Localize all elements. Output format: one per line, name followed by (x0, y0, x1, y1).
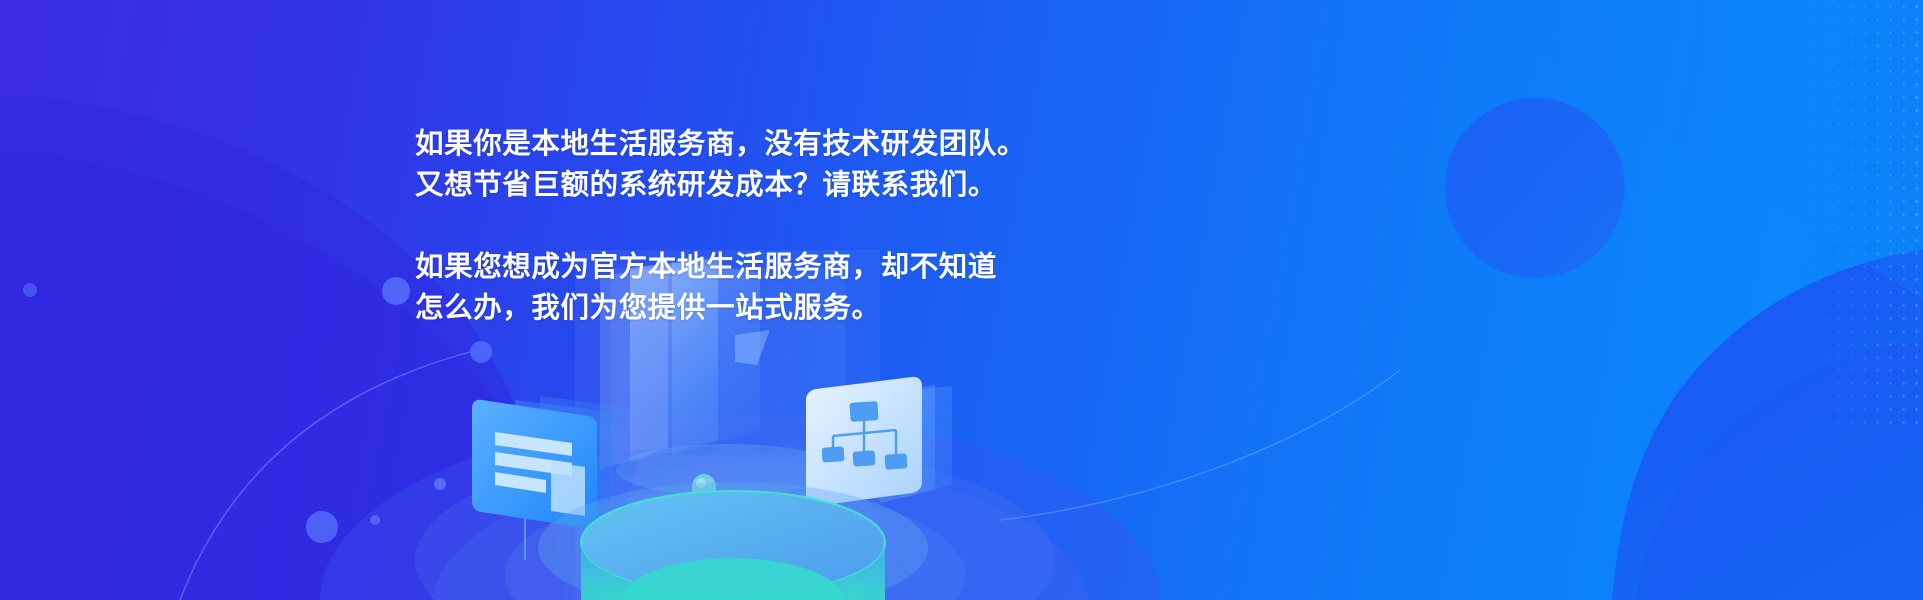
cylinder-outer-disc (538, 482, 928, 600)
copy-line-3: 如果您想成为官方本地生活服务商，却不知道 (415, 247, 1175, 288)
org-chart-leaf-1 (822, 446, 845, 462)
copy-paragraph-1: 如果你是本地生活服务商，没有技术研发团队。 又想节省巨额的系统研发成本？请联系我… (415, 124, 1175, 206)
copy-line-1: 如果你是本地生活服务商，没有技术研发团队。 (415, 124, 1175, 165)
decorative-dot-tiny (434, 478, 446, 490)
pendant-ball-highlight (696, 478, 706, 488)
document-card-row-3 (495, 472, 546, 493)
document-list-card-icon (472, 396, 630, 600)
platform-halo-2 (505, 487, 965, 600)
accent-shard (735, 330, 770, 365)
copy-line-2: 又想节省巨额的系统研发成本？请联系我们。 (415, 165, 1175, 206)
org-chart-leaf-3 (885, 453, 908, 469)
cylinder-core (623, 558, 843, 600)
decorative-dot-tiny-2 (370, 515, 380, 525)
org-chart-root-node (849, 401, 878, 422)
hero-banner: 如果你是本地生活服务商，没有技术研发团队。 又想节省巨额的系统研发成本？请联系我… (0, 0, 1923, 600)
decorative-dot-faint (23, 283, 37, 297)
decorative-dot-mid (470, 341, 492, 363)
document-card-row-2 (495, 452, 572, 476)
org-chart-card-ghost-1 (880, 385, 935, 503)
document-card-ghost-2 (540, 396, 630, 522)
document-card-panel (551, 462, 585, 516)
decorative-arc-right (1000, 370, 1400, 520)
document-card-body (472, 400, 597, 528)
background-glow-ellipse-2 (430, 462, 1090, 600)
platform-halo (415, 445, 1055, 600)
pendant-dot-icon (692, 380, 716, 500)
decorative-dot-tiny-3 (827, 560, 837, 570)
copy-line-4: 怎么办，我们为您提供一站式服务。 (415, 288, 1175, 329)
cylinder-aura (600, 455, 860, 600)
org-chart-bus (833, 430, 896, 436)
document-card-row-1 (495, 432, 572, 456)
org-chart-card-ghost-2 (900, 386, 952, 498)
org-chart-leaf-2 (853, 450, 876, 466)
cylinder-platform-icon (538, 482, 928, 600)
background-glow-ellipse (320, 415, 1160, 600)
decorative-arc-left (180, 352, 470, 600)
org-chart-wire-dot (844, 577, 866, 599)
org-chart-card-body (806, 377, 922, 506)
cylinder-top-rim (581, 491, 885, 595)
pendant-ball (692, 474, 716, 500)
cylinder-aura-ring (616, 444, 840, 496)
banner-copy: 如果你是本地生活服务商，没有技术研发团队。 又想节省巨额的系统研发成本？请联系我… (415, 124, 1175, 329)
background-circle-right (1445, 98, 1625, 278)
dot-grid-texture (1793, 0, 1923, 430)
document-card-ghost-1 (515, 400, 612, 530)
copy-paragraph-2: 如果您想成为官方本地生活服务商，却不知道 怎么办，我们为您提供一站式服务。 (415, 247, 1175, 329)
cylinder-body (581, 543, 885, 600)
decorative-dot-lower (306, 511, 338, 543)
org-chart-card-icon (806, 377, 952, 600)
cylinder-top (581, 491, 885, 595)
decorative-dot-upper (382, 277, 410, 305)
